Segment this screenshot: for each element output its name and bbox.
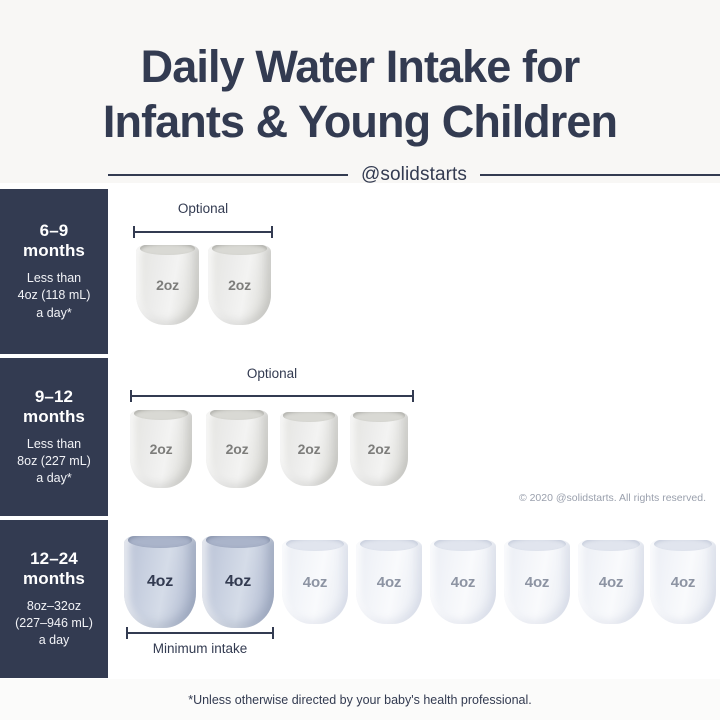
cup-rim <box>582 540 640 551</box>
age-range-unit: months <box>23 241 85 260</box>
age-range-value: 9–12 <box>35 387 73 406</box>
age-sidebar-9-12-months: 9–12 months Less than 8oz (227 mL) a day… <box>0 358 108 516</box>
intake-amount-text: Less than 4oz (118 mL) a day* <box>18 270 91 322</box>
age-sidebar-6-9-months: 6–9 months Less than 4oz (118 mL) a day* <box>0 189 108 354</box>
age-range-value: 6–9 <box>40 221 69 240</box>
intake-line-2: 4oz (118 mL) <box>18 288 91 302</box>
page-title-line-2: Infants & Young Children <box>103 95 617 150</box>
bracket-label-minimum-intake: Minimum intake <box>122 641 278 656</box>
cup-rim <box>654 540 712 551</box>
intake-line-2: (227–946 mL) <box>15 616 93 630</box>
footer-disclaimer: *Unless otherwise directed by your baby'… <box>188 693 532 707</box>
cup-rim <box>283 412 334 422</box>
cup-rim <box>212 245 267 255</box>
cup-body: 4oz <box>430 540 496 624</box>
watermark-divider: @solidstarts <box>108 163 720 187</box>
cup-volume-label: 2oz <box>156 277 179 293</box>
cup-4oz-5: 4oz <box>430 540 496 624</box>
cup-rim <box>134 410 189 420</box>
age-row-9-12-months: 9–12 months Less than 8oz (227 mL) a day… <box>0 358 720 516</box>
bracket-label-optional: Optional <box>130 201 276 216</box>
copyright-notice: © 2020 @solidstarts. All rights reserved… <box>519 492 706 504</box>
cup-volume-label: 4oz <box>303 574 327 591</box>
cup-rim <box>353 412 404 422</box>
poster-footer: *Unless otherwise directed by your baby'… <box>0 679 720 720</box>
age-range-value: 12–24 <box>30 549 78 568</box>
cup-body: 4oz <box>504 540 570 624</box>
intake-line-3: a day* <box>36 471 71 485</box>
age-range-unit: months <box>23 407 85 426</box>
cup-volume-label: 4oz <box>525 574 549 591</box>
cup-body: 4oz <box>282 540 348 624</box>
age-range-label: 6–9 months <box>23 221 85 261</box>
intake-line-1: Less than <box>27 271 81 285</box>
cup-body: 2oz <box>136 245 199 325</box>
cup-volume-label: 4oz <box>599 574 623 591</box>
cup-body: 2oz <box>280 412 338 486</box>
cup-rim <box>434 540 492 551</box>
cup-4oz-6: 4oz <box>504 540 570 624</box>
intake-line-2: 8oz (227 mL) <box>17 454 91 468</box>
cup-volume-label: 4oz <box>225 573 251 591</box>
cup-body: 4oz <box>356 540 422 624</box>
divider-rule-right <box>480 174 720 176</box>
cup-volume-label: 4oz <box>147 573 173 591</box>
cup-volume-label: 4oz <box>377 574 401 591</box>
poster-header: Daily Water Intake for Infants & Young C… <box>0 0 720 183</box>
cup-volume-label: 4oz <box>671 574 695 591</box>
cup-rim <box>286 540 344 551</box>
cups-panel-9-12-months: Optional 2oz 2oz <box>108 358 720 516</box>
cup-rim <box>140 245 195 255</box>
cup-volume-label: 4oz <box>451 574 475 591</box>
intake-line-3: a day* <box>36 306 71 320</box>
cup-rim <box>206 536 269 548</box>
cup-body: 2oz <box>130 410 192 488</box>
intake-amount-text: 8oz–32oz (227–946 mL) a day <box>15 598 93 650</box>
intake-amount-text: Less than 8oz (227 mL) a day* <box>17 436 91 488</box>
cup-2oz-1: 2oz <box>130 410 192 488</box>
cup-2oz-1: 2oz <box>136 245 199 325</box>
intake-line-1: Less than <box>27 437 81 451</box>
cup-4oz-4: 4oz <box>356 540 422 624</box>
cup-4oz-2: 4oz <box>202 536 274 628</box>
cup-body: 2oz <box>350 412 408 486</box>
cup-4oz-3: 4oz <box>282 540 348 624</box>
cup-volume-label: 2oz <box>368 441 391 457</box>
cup-body: 4oz <box>124 536 196 628</box>
age-sidebar-12-24-months: 12–24 months 8oz–32oz (227–946 mL) a day <box>0 520 108 678</box>
age-range-label: 12–24 months <box>23 549 85 589</box>
bracket-minimum-intake <box>126 632 274 634</box>
cups-panel-12-24-months: 4oz 4oz 4oz <box>108 520 720 678</box>
page-title-line-1: Daily Water Intake for <box>141 40 580 95</box>
cup-2oz-2: 2oz <box>206 410 268 488</box>
cup-2oz-2: 2oz <box>208 245 271 325</box>
intake-line-1: 8oz–32oz <box>27 599 81 613</box>
age-range-unit: months <box>23 569 85 588</box>
infographic-poster: Daily Water Intake for Infants & Young C… <box>0 0 720 720</box>
cup-body: 2oz <box>208 245 271 325</box>
cup-volume-label: 2oz <box>150 441 173 457</box>
cup-4oz-1: 4oz <box>124 536 196 628</box>
cup-volume-label: 2oz <box>226 441 249 457</box>
cup-volume-label: 2oz <box>298 441 321 457</box>
cup-body: 4oz <box>578 540 644 624</box>
watermark-handle: @solidstarts <box>348 164 480 186</box>
cup-body: 4oz <box>202 536 274 628</box>
age-row-6-9-months: 6–9 months Less than 4oz (118 mL) a day*… <box>0 189 720 354</box>
age-range-label: 9–12 months <box>23 387 85 427</box>
divider-rule-left <box>108 174 348 176</box>
age-rows: 6–9 months Less than 4oz (118 mL) a day*… <box>0 189 720 678</box>
cup-4oz-8: 4oz <box>650 540 716 624</box>
bracket-optional <box>133 231 273 233</box>
age-row-12-24-months: 12–24 months 8oz–32oz (227–946 mL) a day… <box>0 520 720 678</box>
intake-line-3: a day <box>39 633 70 647</box>
cup-rim <box>360 540 418 551</box>
cup-4oz-7: 4oz <box>578 540 644 624</box>
cup-rim <box>128 536 191 548</box>
cup-rim <box>508 540 566 551</box>
cup-2oz-3: 2oz <box>280 412 338 486</box>
bracket-label-optional: Optional <box>128 366 416 381</box>
cup-body: 2oz <box>206 410 268 488</box>
bracket-optional <box>130 395 414 397</box>
cup-rim <box>210 410 265 420</box>
cup-body: 4oz <box>650 540 716 624</box>
cups-panel-6-9-months: Optional 2oz 2oz <box>108 189 720 354</box>
cup-volume-label: 2oz <box>228 277 251 293</box>
cup-2oz-4: 2oz <box>350 412 408 486</box>
